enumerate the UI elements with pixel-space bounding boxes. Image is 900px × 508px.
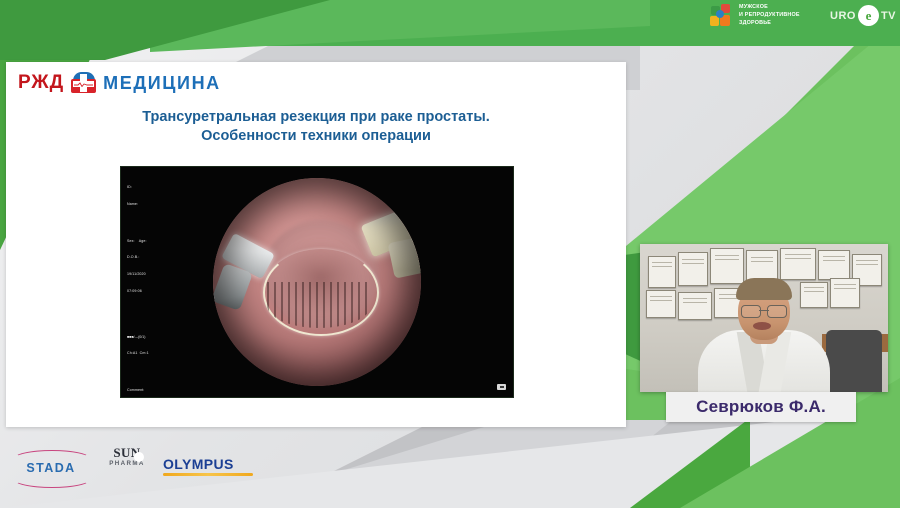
presentation-slide[interactable]: РЖД МЕДИЦИНА Трансуретральная резекция п… — [6, 62, 626, 427]
logo-olympus-text: OLYMPUS — [163, 456, 255, 472]
medical-cross-icon — [70, 72, 97, 94]
logo-olympus: OLYMPUS — [163, 456, 255, 476]
recording-indicator-icon — [497, 384, 506, 390]
office-chair — [826, 330, 882, 392]
osd-sex-age: Sex: Age: — [127, 239, 149, 245]
osd-comment-label: Comment: — [127, 388, 149, 394]
logo-mrz-line1: МУЖСКОЕ — [739, 4, 800, 12]
logo-medicina-text: МЕДИЦИНА — [103, 73, 221, 94]
sponsor-logo-row: STADA SUN PHARMA OLYMPUS — [0, 442, 300, 498]
speaker-name-banner: Севрюков Ф.А. — [666, 392, 856, 422]
logo-urotv: URO e TV — [830, 5, 896, 26]
slide-title-line2: Особенности техники операции — [6, 127, 626, 146]
colorful-puzzle-icon — [710, 4, 734, 28]
slide-title-line1: Трансуретральная резекция при раке прост… — [6, 108, 626, 127]
logo-sun-pharma: SUN PHARMA — [96, 445, 158, 493]
logo-sun-text: SUN — [96, 446, 158, 460]
logo-pharma-text: PHARMA — [96, 460, 158, 467]
webinar-screen: МУЖСКОЕ И РЕПРОДУКТИВНОЕ ЗДОРОВЬЕ URO e … — [0, 0, 900, 508]
logo-rzd-text: РЖД — [18, 72, 64, 94]
logo-stada: STADA — [13, 450, 89, 488]
urotv-orb-icon: e — [858, 5, 879, 26]
logo-rzd-medicina: РЖД МЕДИЦИНА — [18, 72, 221, 94]
logo-muzhskoe-reproduktivnoe-zdorovie: МУЖСКОЕ И РЕПРОДУКТИВНОЕ ЗДОРОВЬЕ — [710, 4, 800, 28]
speaker-webcam-video[interactable] — [640, 244, 888, 392]
osd-id-label: ID: — [127, 185, 149, 191]
olympus-gold-bar-icon — [163, 473, 253, 476]
speaker-portrait — [698, 288, 830, 392]
logo-mrz-text: МУЖСКОЕ И РЕПРОДУКТИВНОЕ ЗДОРОВЬЕ — [739, 4, 800, 27]
wall-certificate — [818, 250, 850, 280]
wall-certificate — [678, 252, 708, 286]
osd-time: 07:09:06 — [127, 289, 149, 295]
osd-name-label: Name: — [127, 202, 149, 208]
osd-channel: Ch:A1 Cm:1 — [127, 351, 149, 357]
wall-certificate — [710, 248, 744, 284]
hair — [736, 278, 792, 300]
osd-dob-label: D.O.B.: — [127, 255, 149, 261]
wall-certificate — [780, 248, 816, 280]
osd-counter: ■■■/---(0/1) — [127, 335, 149, 341]
glasses-icon — [741, 305, 787, 316]
slide-title: Трансуретральная резекция при раке прост… — [6, 108, 626, 145]
speaker-name-text: Севрюков Ф.А. — [696, 397, 826, 417]
logo-mrz-line3: ЗДОРОВЬЕ — [739, 20, 800, 28]
endoscopic-video-frame[interactable]: ID: Name: Sex: Age: D.O.B.: 19/11/2020 0… — [120, 166, 514, 398]
wall-certificate — [646, 290, 676, 318]
header-logo-bar: МУЖСКОЕ И РЕПРОДУКТИВНОЕ ЗДОРОВЬЕ URO e … — [0, 0, 900, 34]
logo-mrz-line2: И РЕПРОДУКТИВНОЕ — [739, 12, 800, 20]
wall-certificate — [648, 256, 676, 288]
endoscope-view-circle — [213, 178, 421, 386]
osd-date: 19/11/2020 — [127, 272, 149, 278]
ecg-line-icon — [74, 82, 93, 87]
logo-urotv-prefix: URO — [830, 10, 856, 22]
logo-urotv-suffix: TV — [881, 10, 896, 22]
logo-urotv-mark: e — [866, 9, 872, 22]
wall-certificate — [830, 278, 860, 308]
video-osd-overlay: ID: Name: Sex: Age: D.O.B.: 19/11/2020 0… — [127, 174, 149, 405]
logo-stada-text: STADA — [13, 461, 89, 475]
mouth — [753, 322, 771, 330]
endoscope-vignette — [213, 178, 421, 386]
